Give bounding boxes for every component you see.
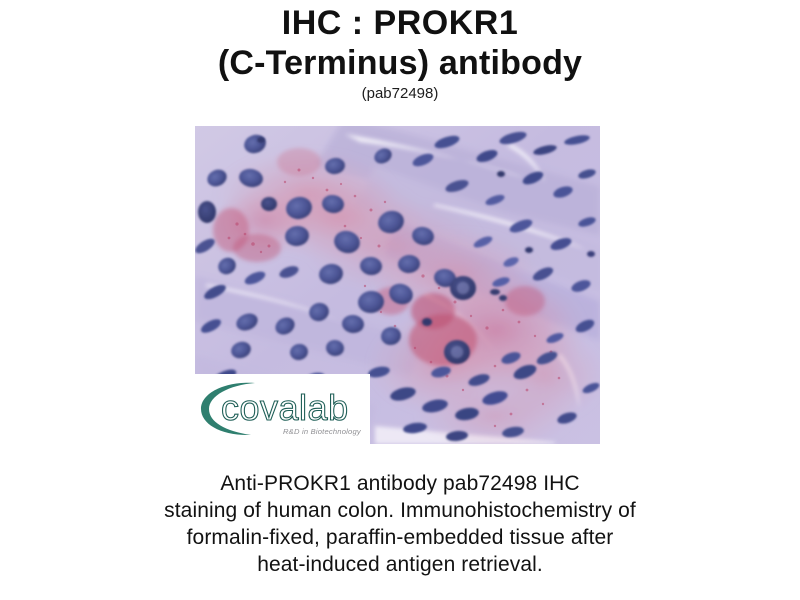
page-title-line-1: IHC : PROKR1	[0, 4, 800, 43]
logo-wordmark: covalab	[221, 387, 349, 428]
figure-caption: Anti-PROKR1 antibody pab72498 IHC staini…	[0, 470, 800, 578]
caption-line-3: formalin-fixed, paraffin-embedded tissue…	[0, 524, 800, 551]
catalog-number: (pab72498)	[0, 84, 800, 103]
figure-container: covalab R&D in Biotechnology	[195, 126, 600, 444]
caption-line-4: heat-induced antigen retrieval.	[0, 551, 800, 578]
covalab-logo: covalab R&D in Biotechnology	[195, 374, 370, 444]
caption-line-2: staining of human colon. Immunohistochem…	[0, 497, 800, 524]
title-block: IHC : PROKR1 (C-Terminus) antibody (pab7…	[0, 0, 800, 103]
caption-line-1: Anti-PROKR1 antibody pab72498 IHC	[0, 470, 800, 497]
page-title-line-2: (C-Terminus) antibody	[0, 43, 800, 83]
logo-tagline: R&D in Biotechnology	[283, 427, 362, 436]
